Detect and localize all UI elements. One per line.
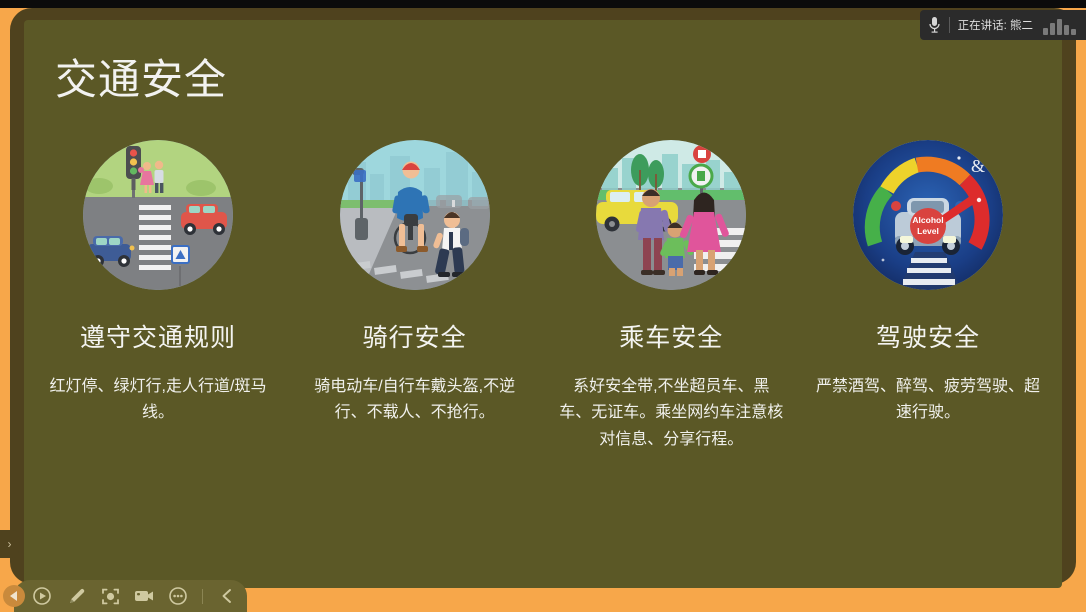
presentation-window: 交通安全 bbox=[0, 0, 1086, 612]
chevron-right-icon: › bbox=[8, 537, 12, 551]
collapse-toolbar-button[interactable] bbox=[217, 586, 237, 606]
slide-canvas: 交通安全 bbox=[24, 20, 1062, 588]
content-column-1: 遵守交通规则 红灯停、绿灯行,走人行道/斑马线。 bbox=[34, 140, 282, 453]
page-title: 交通安全 bbox=[55, 56, 227, 104]
content-column-3: 乘车安全 系好安全带,不坐超员车、黑车、无证车。乘坐网约车注意核对信息、分享行程… bbox=[547, 140, 795, 453]
alcohol-label-line2: Level bbox=[917, 226, 939, 236]
toolbar-divider bbox=[202, 589, 203, 604]
microphone-icon bbox=[928, 16, 941, 34]
column-body: 严禁酒驾、醉驾、疲劳驾驶、超速行驶。 bbox=[815, 374, 1040, 427]
content-column-4: Alcohol Level & 驾驶安全 严禁酒驾、醉驾、疲劳驾驶、超速行驶。 bbox=[804, 140, 1052, 453]
content-column-2: 骑行安全 骑电动车/自行车戴头盔,不逆行、不载人、不抢行。 bbox=[291, 140, 539, 453]
column-body: 骑电动车/自行车戴头盔,不逆行、不载人、不抢行。 bbox=[302, 374, 527, 427]
column-title: 遵守交通规则 bbox=[80, 318, 236, 354]
family-crossing-street-illustration bbox=[596, 140, 746, 290]
play-button[interactable] bbox=[32, 586, 52, 606]
laser-pointer-button[interactable] bbox=[100, 586, 120, 606]
audio-level-icon bbox=[1043, 15, 1084, 35]
column-body: 系好安全带,不坐超员车、黑车、无证车。乘坐网约车注意核对信息、分享行程。 bbox=[559, 374, 784, 453]
content-columns: 遵守交通规则 红灯停、绿灯行,走人行道/斑马线。 bbox=[34, 140, 1052, 453]
active-speaker-chip[interactable]: 正在讲话: 熊二 bbox=[920, 10, 1086, 40]
sidebar-expand-tab[interactable]: › bbox=[0, 530, 19, 558]
speaking-label: 正在讲话: 熊二 bbox=[958, 17, 1035, 33]
alcohol-label-line1: Alcohol bbox=[912, 215, 943, 225]
column-body: 红灯停、绿灯行,走人行道/斑马线。 bbox=[46, 374, 271, 427]
crosswalk-traffic-light-illustration bbox=[83, 140, 233, 290]
alcohol-level-gauge-illustration: Alcohol Level & bbox=[853, 140, 1003, 290]
chip-divider bbox=[949, 17, 950, 33]
window-top-strip bbox=[0, 0, 1086, 8]
more-button[interactable] bbox=[168, 586, 188, 606]
back-arrow-icon bbox=[10, 591, 17, 601]
column-title: 驾驶安全 bbox=[876, 318, 980, 354]
back-button[interactable] bbox=[3, 585, 25, 607]
annotate-button[interactable] bbox=[66, 586, 86, 606]
column-title: 乘车安全 bbox=[619, 318, 723, 354]
bottom-toolbar-area bbox=[0, 580, 25, 612]
cyclist-helmet-illustration bbox=[340, 140, 490, 290]
record-button[interactable] bbox=[134, 586, 154, 606]
presentation-toolbar bbox=[14, 580, 247, 612]
ampersand-decoration: & bbox=[971, 156, 985, 176]
column-title: 骑行安全 bbox=[363, 318, 467, 354]
